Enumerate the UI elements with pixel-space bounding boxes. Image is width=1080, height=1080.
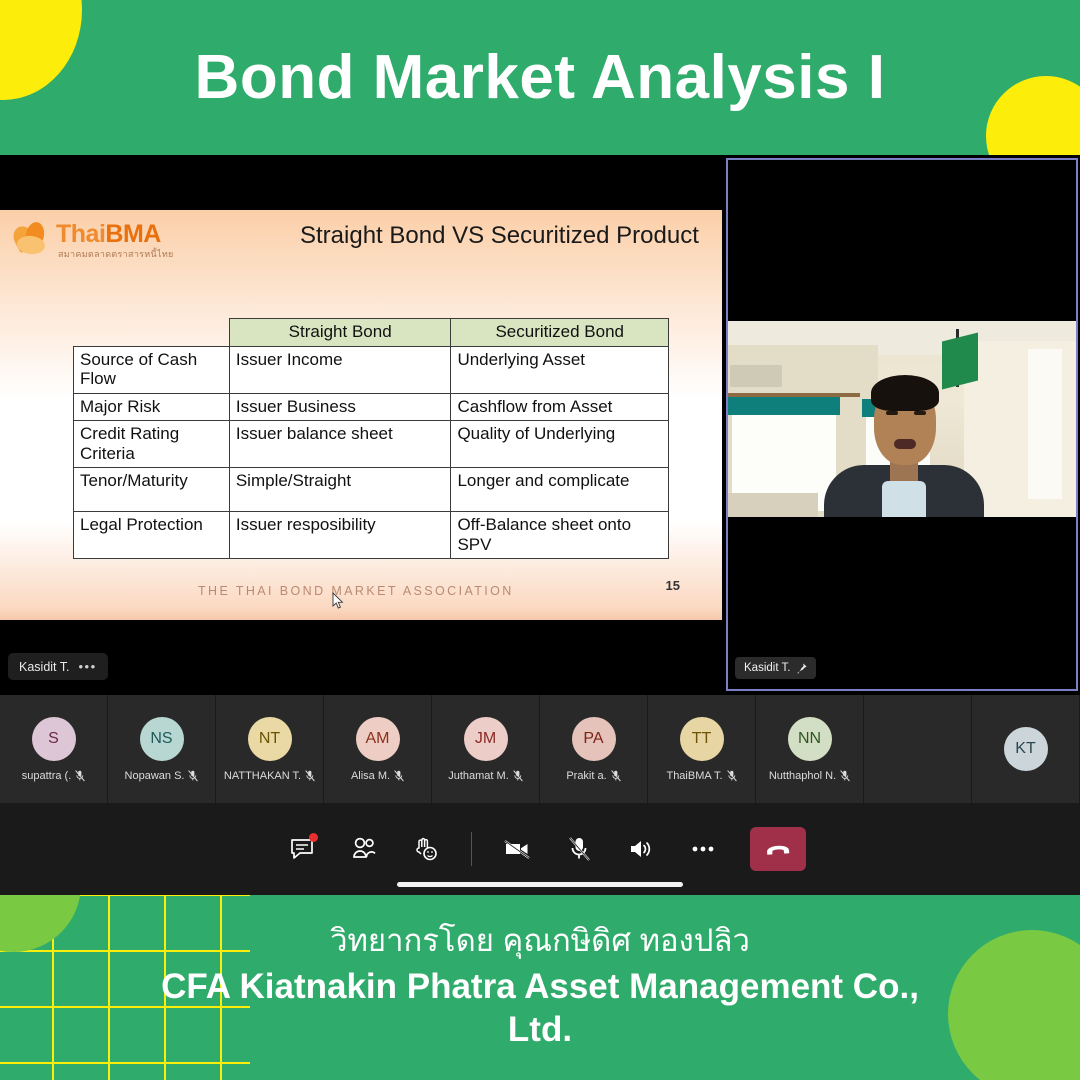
slide-title: Straight Bond VS Securitized Product	[300, 222, 720, 250]
table-cell: Tenor/Maturity	[74, 468, 230, 512]
pin-icon	[797, 663, 807, 674]
poster-footer: วิทยากรโดย คุณกษิดิศ ทองปลิว CFA Kiatnak…	[0, 895, 1080, 1080]
chat-unread-badge	[309, 833, 318, 842]
table-header-straight-bond: Straight Bond	[229, 319, 451, 347]
speaker-icon	[627, 836, 655, 862]
video-tile-active-speaker[interactable]: Kasidit T.	[726, 158, 1078, 691]
avatar: NT	[248, 717, 292, 761]
footer-company-line: CFA Kiatnakin Phatra Asset Management Co…	[160, 966, 920, 1051]
participant-tile[interactable]: NSNopawan S.	[108, 695, 216, 803]
slide-footer-text: THE THAI BOND MARKET ASSOCIATION	[198, 584, 514, 598]
toolbar-divider	[471, 832, 472, 866]
participant-tile[interactable]: TTThaiBMA T.	[648, 695, 756, 803]
end-call-button[interactable]	[750, 827, 806, 871]
mic-off-icon	[188, 770, 198, 782]
table-cell: Credit Rating Criteria	[74, 421, 230, 468]
participant-label: Alisa M.	[351, 770, 404, 782]
participant-name: supattra (.	[22, 770, 72, 782]
mic-off-icon	[566, 835, 592, 863]
participant-tile[interactable]: JMJuthamat M.	[432, 695, 540, 803]
mic-off-icon	[513, 770, 523, 782]
mic-off-icon	[727, 770, 737, 782]
participant-tile[interactable]: KT	[972, 695, 1080, 803]
participant-tile[interactable]: NNNutthaphol N.	[756, 695, 864, 803]
participant-tile[interactable]: NTNATTHAKAN T.	[216, 695, 324, 803]
table-cell: Underlying Asset	[451, 346, 669, 393]
more-icon	[690, 844, 716, 854]
table-cell: Simple/Straight	[229, 468, 451, 512]
presentation-slide: ThaiBMA สมาคมตลาดตราสารหนี้ไทย Straight …	[0, 210, 722, 620]
people-icon	[350, 836, 378, 862]
home-indicator	[397, 882, 683, 887]
video-tile-participant-name: Kasidit T.	[744, 662, 790, 674]
participant-name: Alisa M.	[351, 770, 390, 782]
table-cell: Issuer Income	[229, 346, 451, 393]
shared-screen-presenter-name: Kasidit T.	[19, 660, 70, 674]
participant-name: NATTHAKAN T.	[224, 770, 301, 782]
participant-name: Nutthaphol N.	[769, 770, 836, 782]
table-row: Major Risk Issuer Business Cashflow from…	[74, 393, 669, 421]
avatar: PA	[572, 717, 616, 761]
table-cell: Off-Balance sheet onto SPV	[451, 512, 669, 559]
meeting-window: ThaiBMA สมาคมตลาดตราสารหนี้ไทย Straight …	[0, 155, 1080, 895]
end-call-icon	[764, 836, 792, 862]
thaibma-logo-text: ThaiBMA	[56, 220, 161, 249]
mic-off-icon	[75, 770, 85, 782]
table-cell: Major Risk	[74, 393, 230, 421]
mic-off-icon	[611, 770, 621, 782]
table-cell: Issuer resposibility	[229, 512, 451, 559]
table-cell: Quality of Underlying	[451, 421, 669, 468]
video-feed	[728, 321, 1076, 517]
participant-label: Nutthaphol N.	[769, 770, 850, 782]
participant-label: Juthamat M.	[448, 770, 523, 782]
table-row: Source of Cash Flow Issuer Income Underl…	[74, 346, 669, 393]
avatar: S	[32, 717, 76, 761]
meeting-control-bar	[0, 803, 1080, 895]
chat-button[interactable]	[275, 827, 329, 871]
table-cell: Source of Cash Flow	[74, 346, 230, 393]
avatar: TT	[680, 717, 724, 761]
reactions-button[interactable]	[399, 827, 453, 871]
avatar: KT	[1004, 727, 1048, 771]
footer-speaker-line: วิทยากรโดย คุณกษิดิศ ทองปลิว	[330, 924, 750, 958]
table-row: Tenor/Maturity Simple/Straight Longer an…	[74, 468, 669, 512]
participant-label: supattra (.	[22, 770, 86, 782]
avatar: NS	[140, 717, 184, 761]
more-options-icon[interactable]: •••	[79, 659, 97, 674]
participant-label: ThaiBMA T.	[666, 770, 736, 782]
comparison-table: Straight Bond Securitized Bond Source of…	[73, 318, 669, 559]
mouse-cursor-icon	[332, 592, 344, 610]
poster-root: Bond Market Analysis I ThaiBMA สมาคมตลาด…	[0, 0, 1080, 1080]
camera-toggle-button[interactable]	[490, 827, 544, 871]
shared-screen-name-chip[interactable]: Kasidit T. •••	[8, 653, 108, 680]
avatar: JM	[464, 717, 508, 761]
participant-name: Nopawan S.	[125, 770, 185, 782]
slide-page-number: 15	[666, 578, 680, 593]
mic-off-icon	[394, 770, 404, 782]
raise-hand-icon	[412, 836, 440, 862]
avatar: AM	[356, 717, 400, 761]
thaibma-logo: ThaiBMA สมาคมตลาดตราสารหนี้ไทย	[12, 218, 192, 264]
table-row: Credit Rating Criteria Issuer balance sh…	[74, 421, 669, 468]
participant-filmstrip: Ssupattra (.NSNopawan S.NTNATTHAKAN T.AM…	[0, 695, 1080, 803]
participant-name: Juthamat M.	[448, 770, 509, 782]
mic-toggle-button[interactable]	[552, 827, 606, 871]
table-header-row: Straight Bond Securitized Bond	[74, 319, 669, 347]
video-tile-name-chip: Kasidit T.	[735, 657, 816, 679]
participant-name: Prakit a.	[566, 770, 606, 782]
table-cell: Longer and complicate	[451, 468, 669, 512]
participant-tile[interactable]	[864, 695, 972, 803]
more-options-button[interactable]	[676, 827, 730, 871]
participant-tile[interactable]: AMAlisa M.	[324, 695, 432, 803]
participant-tile[interactable]: Ssupattra (.	[0, 695, 108, 803]
camera-off-icon	[502, 836, 532, 862]
avatar: NN	[788, 717, 832, 761]
table-header-blank	[74, 319, 230, 347]
participant-label: NATTHAKAN T.	[224, 770, 315, 782]
table-header-securitized-bond: Securitized Bond	[451, 319, 669, 347]
page-title: Bond Market Analysis I	[195, 47, 886, 109]
participants-button[interactable]	[337, 827, 391, 871]
table-cell: Issuer Business	[229, 393, 451, 421]
table-cell: Cashflow from Asset	[451, 393, 669, 421]
participant-tile[interactable]: PAPrakit a.	[540, 695, 648, 803]
shared-screen-stage[interactable]: ThaiBMA สมาคมตลาดตราสารหนี้ไทย Straight …	[0, 155, 722, 690]
table-cell: Issuer balance sheet	[229, 421, 451, 468]
mic-off-icon	[840, 770, 850, 782]
thaibma-logo-subtitle: สมาคมตลาดตราสารหนี้ไทย	[58, 247, 174, 261]
speaker-button[interactable]	[614, 827, 668, 871]
poster-header: Bond Market Analysis I	[0, 0, 1080, 155]
participant-name: ThaiBMA T.	[666, 770, 722, 782]
participant-label: Nopawan S.	[125, 770, 199, 782]
participant-label: Prakit a.	[566, 770, 620, 782]
mic-off-icon	[305, 770, 315, 782]
table-cell: Legal Protection	[74, 512, 230, 559]
table-row: Legal Protection Issuer resposibility Of…	[74, 512, 669, 559]
